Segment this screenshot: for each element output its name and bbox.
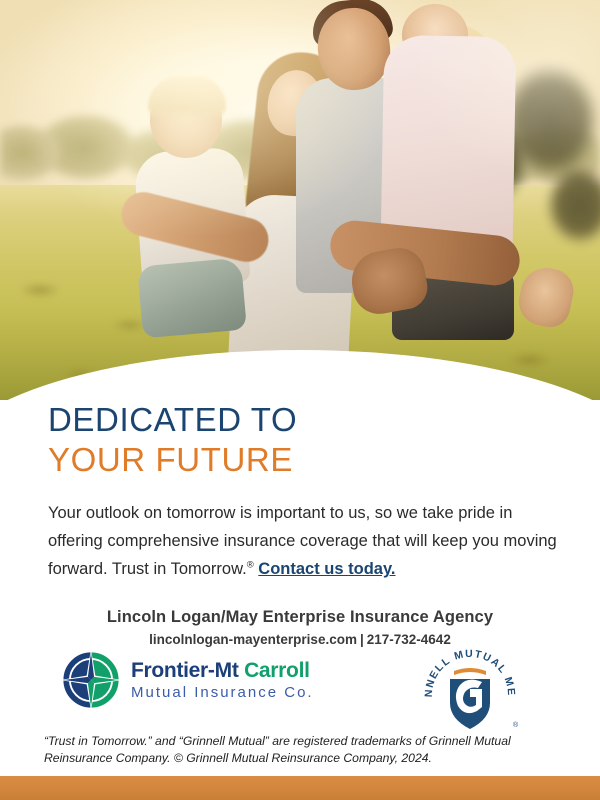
legal-disclaimer: “Trust in Tomorrow.” and “Grinnell Mutua…	[44, 733, 558, 768]
frontier-name-part2: Carroll	[244, 659, 310, 682]
compass-rose-icon	[60, 649, 122, 711]
headline-line-2: YOUR FUTURE	[48, 440, 600, 480]
frontier-logo-name: Frontier-Mt Carroll	[131, 660, 314, 681]
page-title: DEDICATED TO YOUR FUTURE	[0, 400, 600, 481]
agency-name: Lincoln Logan/May Enterprise Insurance A…	[0, 608, 600, 627]
insurance-advertisement: DEDICATED TO YOUR FUTURE Your outlook on…	[0, 0, 600, 800]
frontier-mt-carroll-logo: Frontier-Mt Carroll Mutual Insurance Co.	[60, 649, 314, 711]
registered-trademark-symbol: ®	[247, 560, 254, 571]
content-area: DEDICATED TO YOUR FUTURE Your outlook on…	[0, 400, 600, 647]
toddler-hair	[148, 76, 226, 122]
hero-photo	[0, 0, 600, 400]
seal-registered-mark: ®	[513, 721, 519, 729]
grinnell-mutual-member-seal-icon: A GRINNELL MUTUAL MEMBER ®	[420, 645, 520, 737]
grinnell-mutual-member-seal: A GRINNELL MUTUAL MEMBER ®	[420, 645, 520, 737]
toddler-pants	[137, 258, 247, 339]
frontier-logo-subtitle: Mutual Insurance Co.	[131, 685, 314, 700]
frontier-logo-wordmark: Frontier-Mt Carroll Mutual Insurance Co.	[131, 660, 314, 700]
frontier-name-part1: Frontier-Mt	[131, 659, 239, 682]
bottom-accent-band	[0, 776, 600, 800]
headline-line-1: DEDICATED TO	[48, 400, 600, 440]
contact-us-link[interactable]: Contact us today.	[258, 560, 395, 578]
body-copy: Your outlook on tomorrow is important to…	[0, 481, 600, 584]
logo-row: Frontier-Mt Carroll Mutual Insurance Co.…	[0, 645, 600, 737]
